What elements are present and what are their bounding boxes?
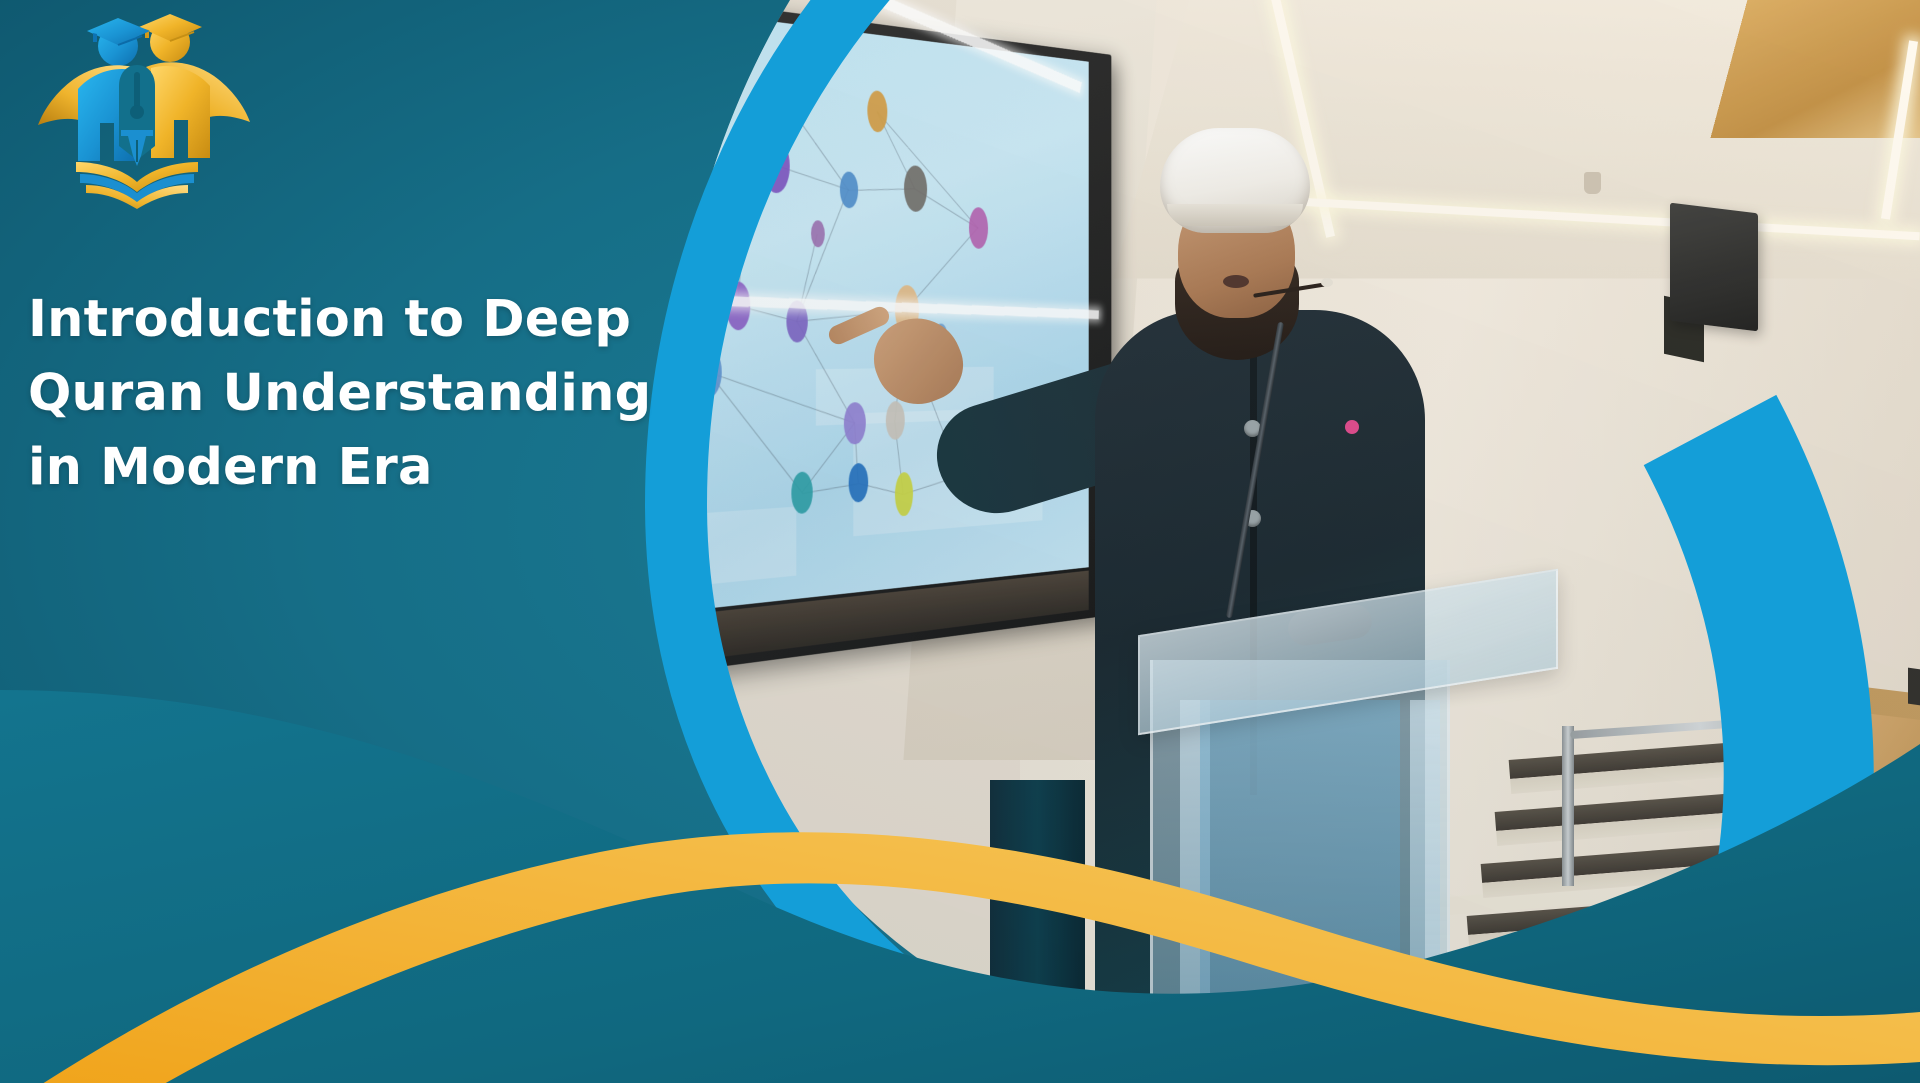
title-slide: Introduction to Deep Quran Understanding… — [0, 0, 1920, 1083]
title-line-2: Quran Understanding — [28, 357, 708, 431]
diagram-edge — [680, 152, 692, 227]
diagram-node — [895, 471, 913, 516]
diagram-node — [868, 89, 888, 133]
diagram-node — [772, 74, 797, 123]
diagram-edge — [681, 164, 776, 226]
wood-desk — [1830, 691, 1920, 1029]
headset-mic-tip — [1321, 278, 1333, 287]
podium-panel — [1200, 700, 1400, 1000]
title-line-1: Introduction to Deep — [28, 283, 708, 357]
lapel-pin — [1345, 420, 1359, 434]
graduate-figure-gold — [139, 14, 250, 158]
diagram-node — [811, 220, 824, 247]
lecture-photo — [640, 0, 1920, 1083]
turban-band — [1167, 204, 1303, 226]
diagram-node — [762, 137, 790, 194]
diagram-node — [886, 401, 905, 440]
diagram-node — [969, 207, 988, 249]
handrail-post — [1562, 726, 1574, 886]
diagram-edge — [708, 372, 803, 493]
title-line-3: in Modern Era — [28, 431, 708, 505]
slide-title: Introduction to Deep Quran Understanding… — [28, 283, 708, 505]
open-book-icon — [76, 162, 198, 209]
diagram-node — [792, 472, 813, 515]
ceiling-spotlight — [1584, 172, 1601, 194]
diagram-node — [736, 176, 757, 217]
mouth — [1223, 275, 1249, 288]
wall-speaker — [1670, 203, 1758, 332]
photo-frame — [0, 0, 1920, 1083]
brand-logo — [18, 10, 273, 210]
ceiling-wood-inset — [1710, 0, 1920, 138]
diagram-node — [662, 189, 699, 263]
diagram-edge — [877, 111, 978, 228]
diagram-node — [840, 171, 859, 209]
diagram-node — [684, 136, 700, 167]
diagram-node — [904, 164, 927, 212]
